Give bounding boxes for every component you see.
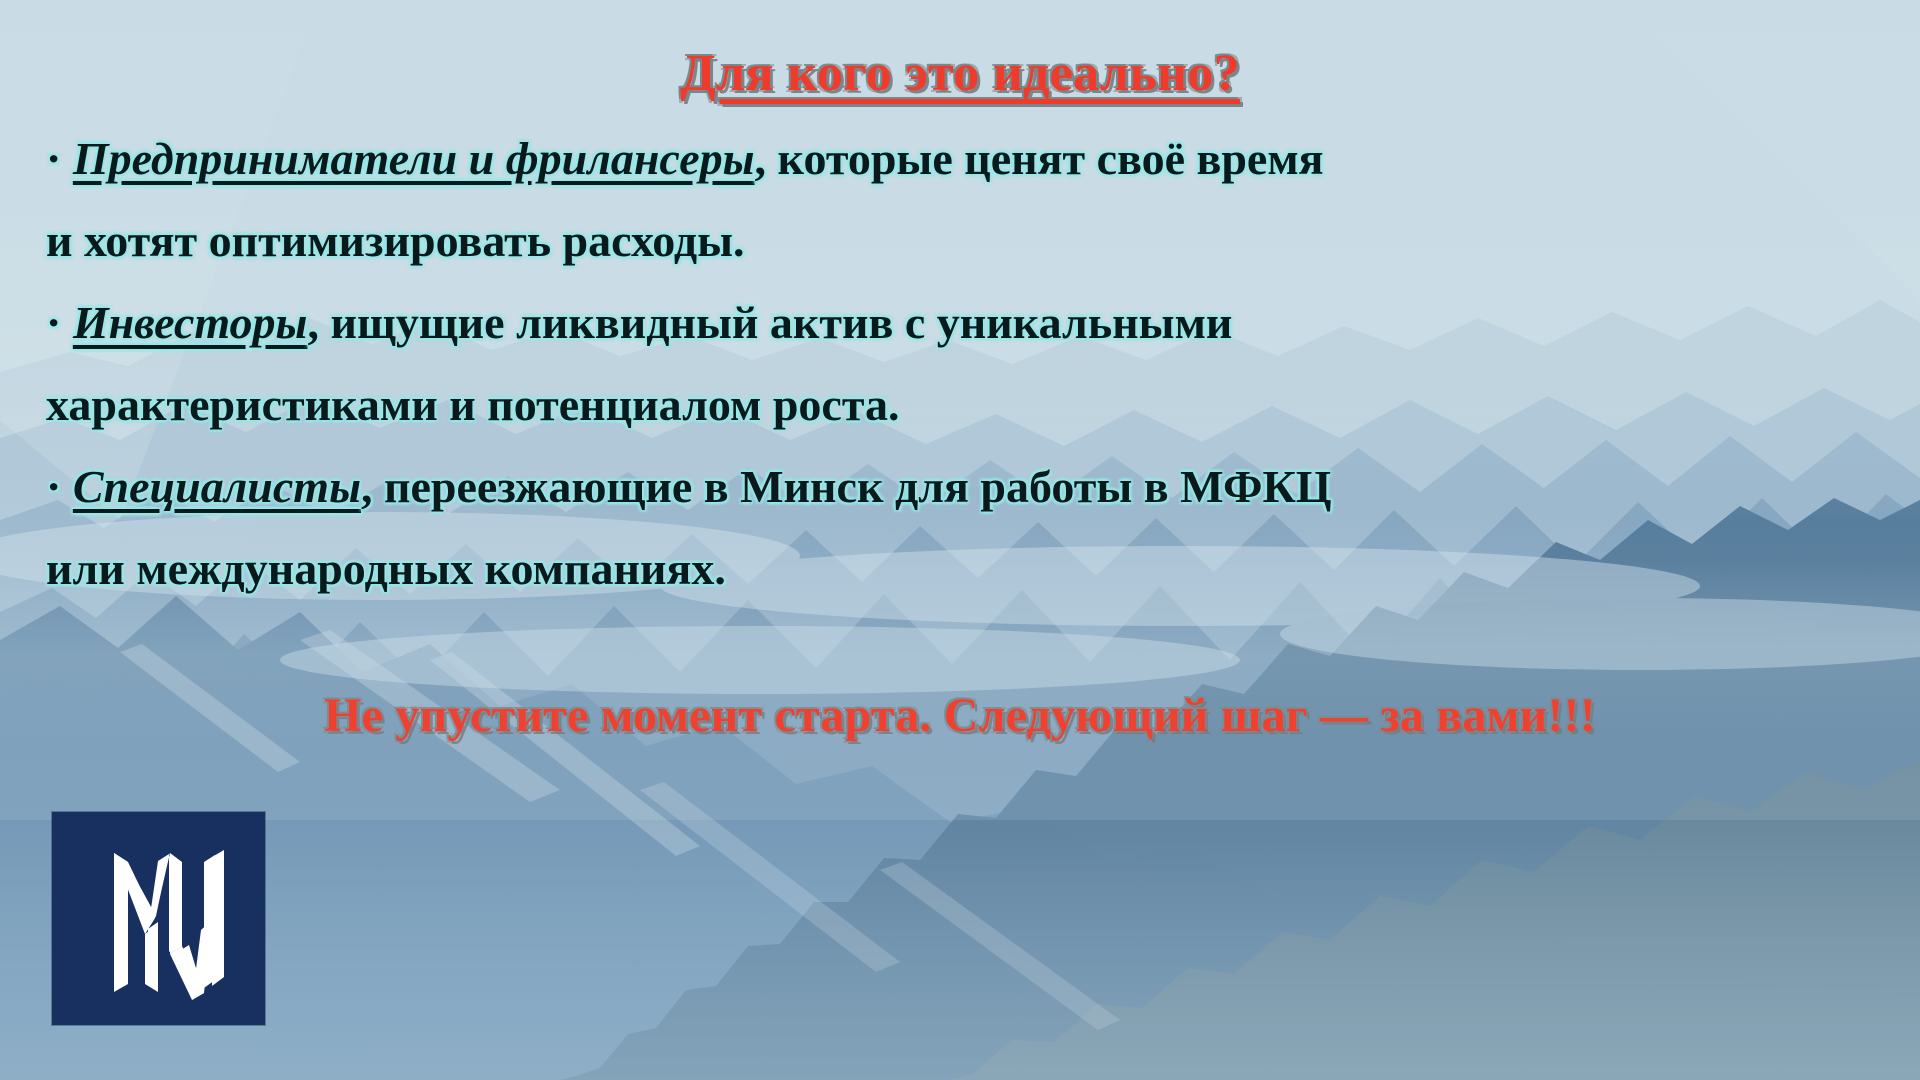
slide-title: Для кого это идеально?	[680, 44, 1240, 103]
bullet-rest: , которые ценят своё время	[755, 133, 1324, 184]
bullet-item: · Специалисты, переезжающие в Минск для …	[46, 446, 1896, 528]
call-to-action-text: Не упустите момент старта. Следующий шаг…	[324, 688, 1596, 743]
bullet-lead: Инвесторы	[73, 297, 308, 348]
bullet-lead: Предприниматели и фрилансеры	[73, 133, 755, 184]
bullet-rest: , переезжающие в Минск для работы в МФКЦ	[361, 461, 1332, 512]
mw-monogram-logo	[52, 812, 265, 1025]
bullet-wrap-line: характеристиками и потенциалом роста.	[46, 364, 1896, 446]
bullet-marker-icon: ·	[46, 133, 61, 184]
cta-row: Не упустите момент старта. Следующий шаг…	[0, 688, 1920, 743]
mw-monogram-icon	[52, 812, 265, 1025]
bullet-wrap-line: и хотят оптимизировать расходы.	[46, 200, 1896, 282]
title-row: Для кого это идеально?	[0, 44, 1920, 103]
bullet-item: · Инвесторы, ищущие ликвидный актив с ун…	[46, 282, 1896, 364]
bullet-wrap-text: и хотят оптимизировать расходы.	[46, 215, 745, 266]
slide-content: Для кого это идеально? · Предприниматели…	[0, 0, 1920, 1080]
bullet-list: · Предприниматели и фрилансеры, которые …	[46, 118, 1896, 610]
bullet-item: · Предприниматели и фрилансеры, которые …	[46, 118, 1896, 200]
bullet-wrap-line: или международных компаниях.	[46, 528, 1896, 610]
bullet-lead: Специалисты	[73, 461, 361, 512]
bullet-rest: , ищущие ликвидный актив с уникальными	[307, 297, 1232, 348]
bullet-wrap-text: характеристиками и потенциалом роста.	[46, 379, 900, 430]
bullet-wrap-text: или международных компаниях.	[46, 543, 726, 594]
slide-canvas: Для кого это идеально? · Предприниматели…	[0, 0, 1920, 1080]
bullet-marker-icon: ·	[46, 297, 61, 348]
bullet-marker-icon: ·	[46, 461, 61, 512]
